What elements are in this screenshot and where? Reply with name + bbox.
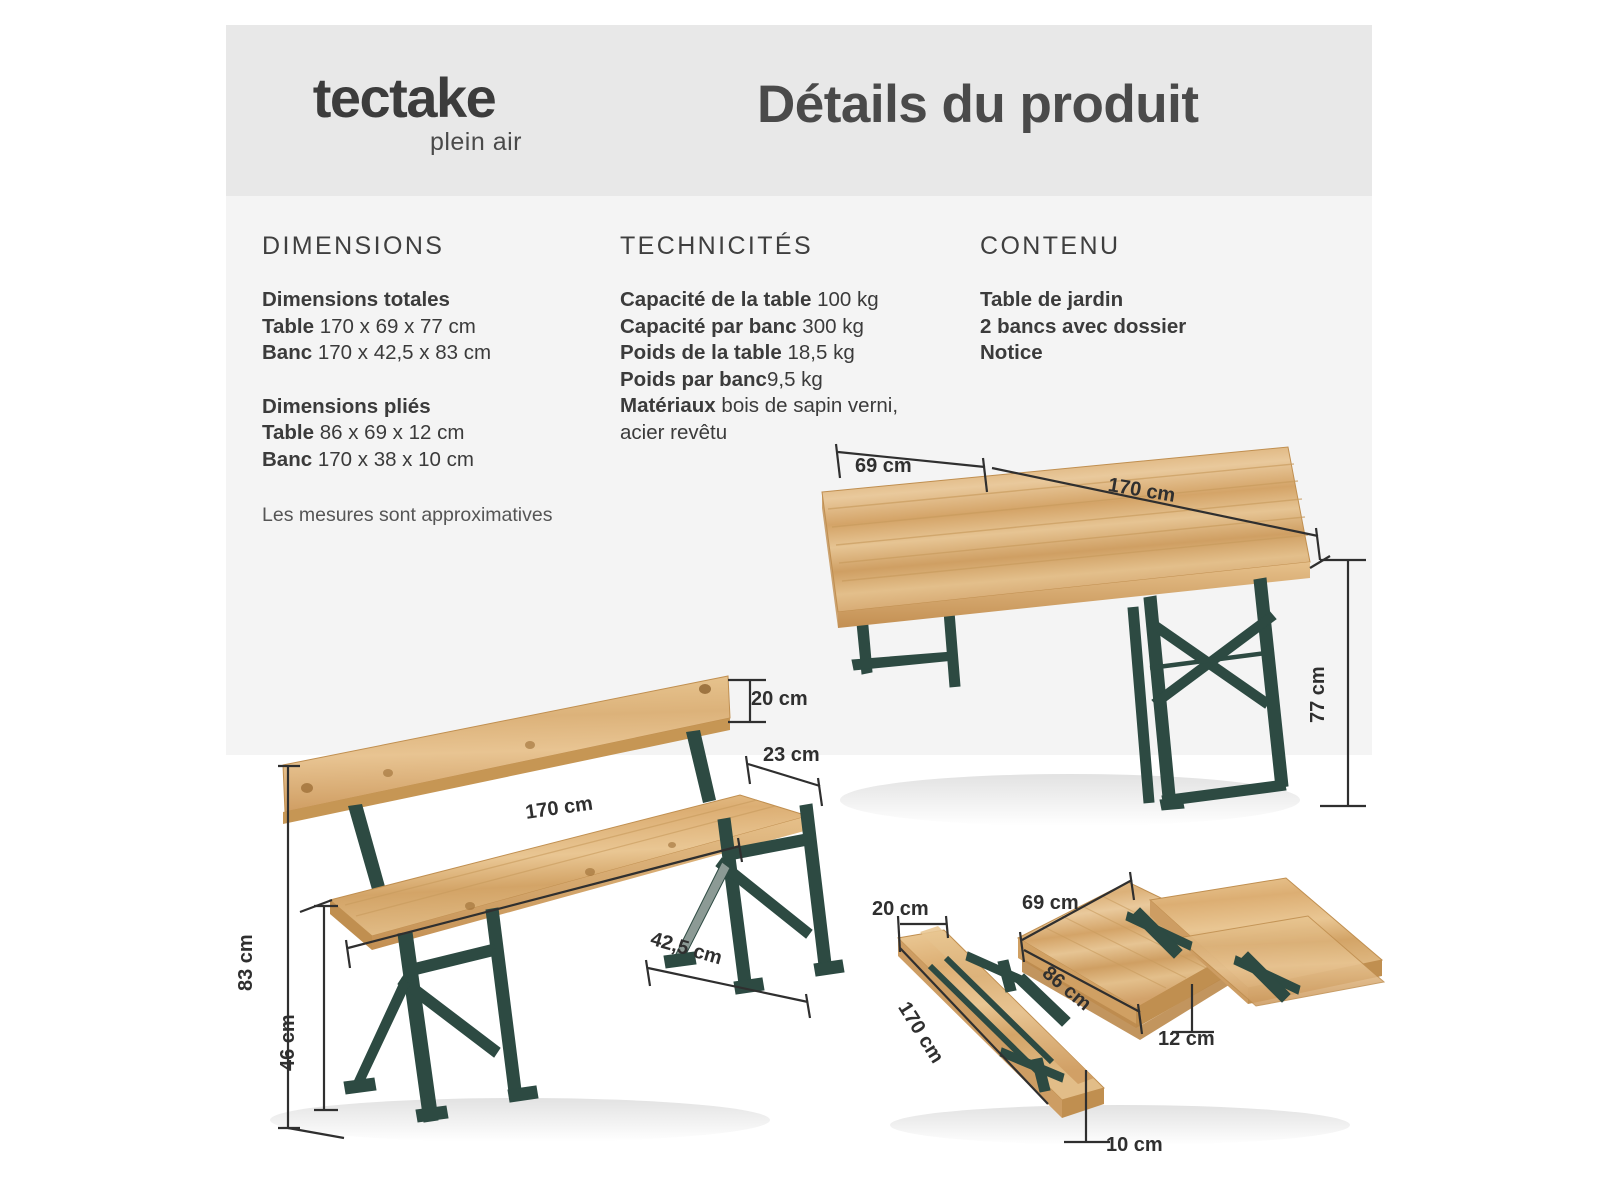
spec-value: 300 kg [797,315,864,338]
dim-label-bench-total-height: 83 cm [235,934,258,991]
spec-value: 100 kg [811,288,878,311]
contenu-item: Notice [980,340,1310,367]
spec-label: Capacité de la table [620,288,811,311]
spec-label: Matériaux [620,394,716,417]
folded-set-illustration [890,878,1384,1145]
spec-materials-continuation: acier revêtu [620,420,970,447]
dim-label-bench-length: 170 cm [524,793,594,825]
spec-label: Poids de la table [620,341,782,364]
spec-row: Poids de la table 18,5 kg [620,340,970,367]
label-folded-title: Dimensions pliés [262,395,431,418]
measurement-note: Les mesures sont approximatives [262,502,602,528]
dim-label-folded-bench-backrest: 20 cm [872,898,929,921]
dimensions-folded-title: Dimensions pliés [262,394,602,421]
spec-row: Capacité par banc 300 kg [620,314,970,341]
brand-logo: tectake plein air [284,70,524,157]
spec-value: 18,5 kg [782,341,855,364]
column-heading-technicites: TECHNICITÉS [620,232,970,261]
contenu-item-label: Table de jardin [980,288,1123,311]
spec-row: Poids par banc9,5 kg [620,367,970,394]
spec-row: Matériaux bois de sapin verni, [620,393,970,420]
column-heading-dimensions: DIMENSIONS [262,232,602,261]
dimensions-folded-bench: Banc 170 x 38 x 10 cm [262,447,602,474]
value-folded-bench: 170 x 38 x 10 cm [318,448,474,471]
spec-row: Capacité de la table 100 kg [620,287,970,314]
label-folded-bench: Banc [262,448,312,471]
folded-dimension-lines [898,872,1214,1142]
column-heading-contenu: CONTENU [980,232,1310,261]
label-total-title: Dimensions totales [262,288,450,311]
column-technicites: TECHNICITÉS Capacité de la table 100 kg … [620,232,970,446]
dim-label-folded-table-width: 69 cm [1022,892,1079,915]
spacer [262,367,602,394]
product-detail-sheet: tectake plein air Détails du produit DIM… [0,0,1600,1200]
dimensions-total-table: Table 170 x 69 x 77 cm [262,314,602,341]
contenu-item-label: Notice [980,341,1043,364]
dim-label-bench-seat-height: 46 cm [277,1014,300,1071]
value-table: 170 x 69 x 77 cm [320,315,476,338]
spec-label: Capacité par banc [620,315,797,338]
label-table: Table [262,315,314,338]
contenu-item: 2 bancs avec dossier [980,314,1310,341]
contenu-item: Table de jardin [980,287,1310,314]
column-contenu: CONTENU Table de jardin 2 bancs avec dos… [980,232,1310,367]
brand-name: tectake [284,70,524,126]
dimensions-folded-table: Table 86 x 69 x 12 cm [262,420,602,447]
brand-tagline: plein air [284,128,524,157]
dim-label-folded-table-thickness: 12 cm [1158,1028,1215,1051]
spec-value: bois de sapin verni, [716,394,898,417]
dim-label-folded-table-length: 86 cm [1037,962,1095,1016]
dimensions-total-title: Dimensions totales [262,287,602,314]
spec-label: Poids par banc [620,368,767,391]
label-bench: Banc [262,341,312,364]
contenu-item-label: 2 bancs avec dossier [980,315,1186,338]
column-dimensions: DIMENSIONS Dimensions totales Table 170 … [262,232,602,528]
dimensions-total-bench: Banc 170 x 42,5 x 83 cm [262,340,602,367]
dim-label-bench-foot-span: 42,5 cm [648,928,725,970]
spec-value: 9,5 kg [767,368,823,391]
dim-label-folded-bench-length: 170 cm [892,998,947,1068]
value-bench: 170 x 42,5 x 83 cm [318,341,491,364]
label-folded-table: Table [262,421,314,444]
value-folded-table: 86 x 69 x 12 cm [320,421,465,444]
dim-label-folded-bench-thickness: 10 cm [1106,1134,1163,1157]
page-title: Détails du produit [757,74,1199,135]
